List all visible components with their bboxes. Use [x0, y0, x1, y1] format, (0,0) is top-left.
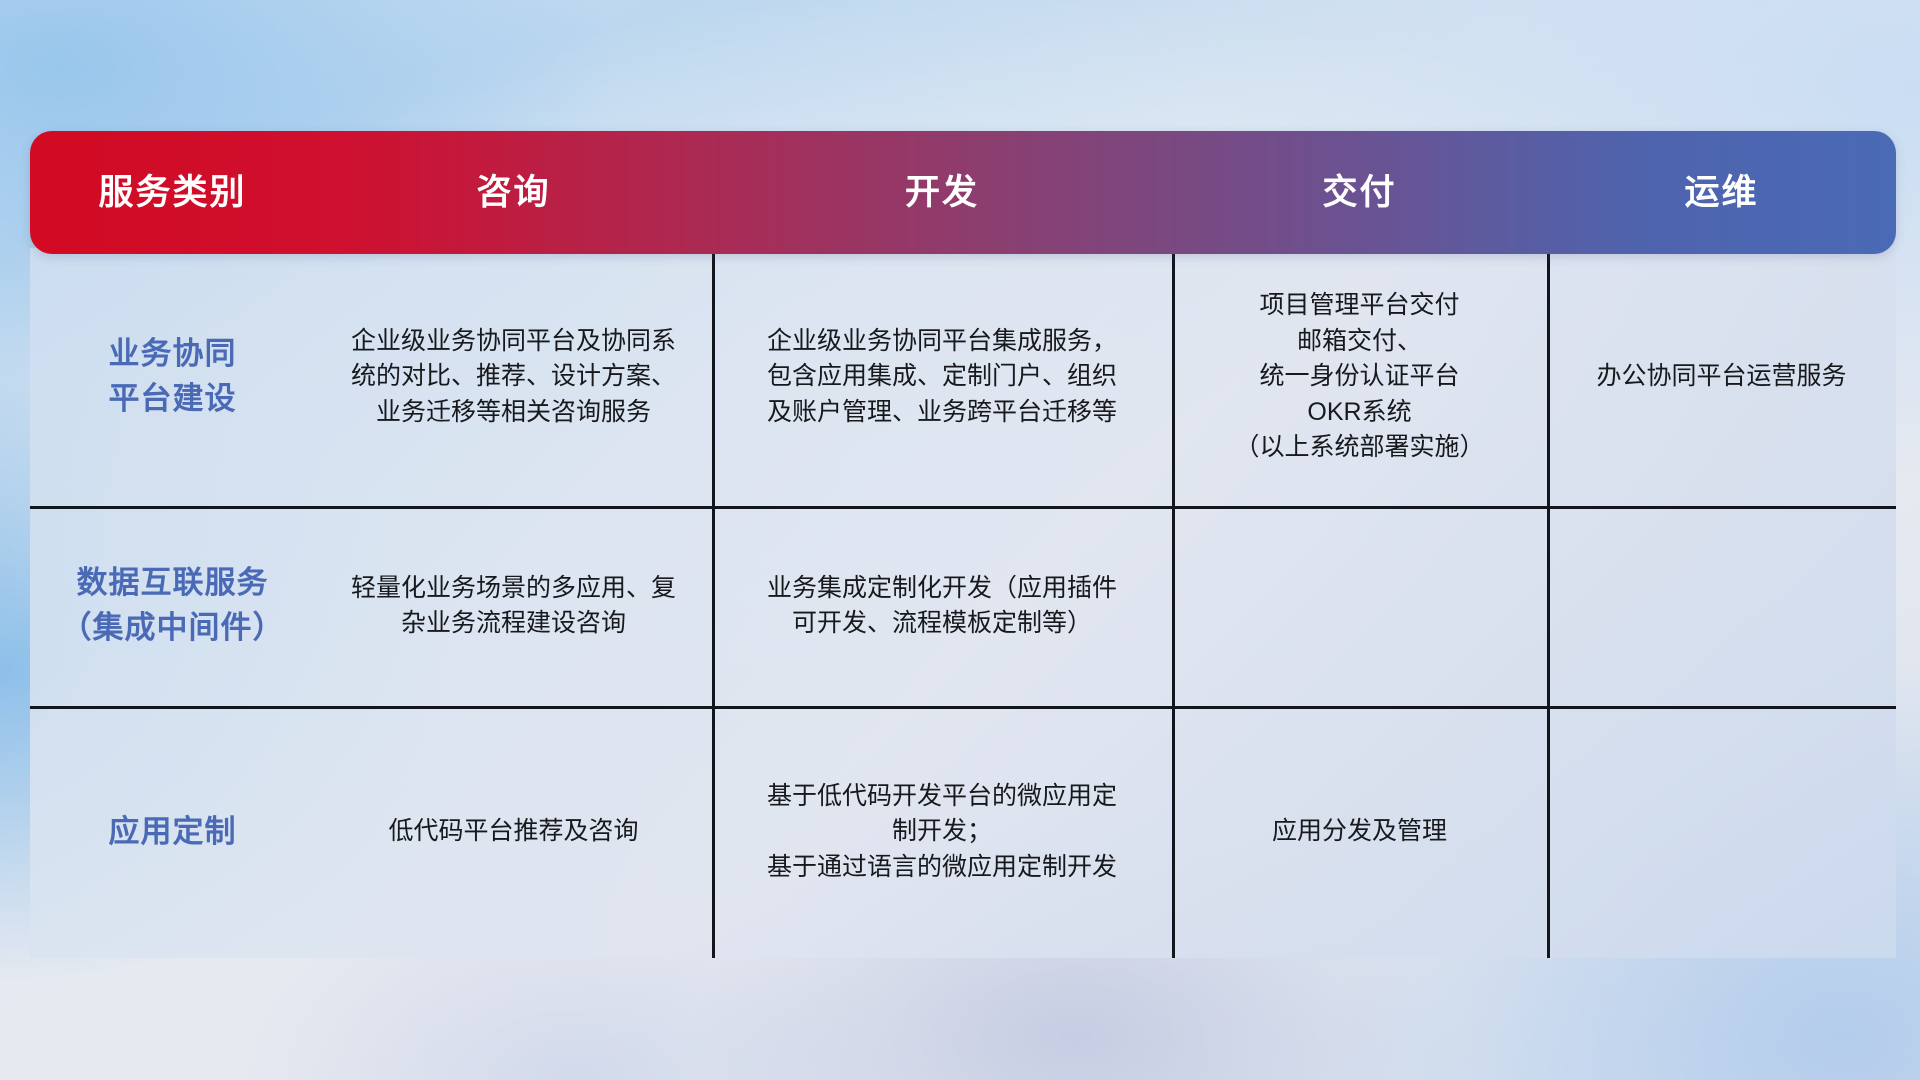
column-header-category: 服务类别 — [30, 172, 315, 214]
cell-operations: 办公协同平台运营服务 — [1547, 248, 1896, 506]
table-header-row: 服务类别 咨询 开发 交付 运维 — [30, 131, 1896, 254]
column-header-consulting: 咨询 — [315, 172, 712, 214]
column-header-operations: 运维 — [1547, 172, 1896, 214]
table-body: 业务协同 平台建设 企业级业务协同平台及协同系 统的对比、推荐、设计方案、 业务… — [30, 248, 1896, 958]
cell-operations — [1547, 706, 1896, 958]
column-header-delivery: 交付 — [1172, 172, 1547, 214]
cell-delivery: 应用分发及管理 — [1172, 706, 1547, 958]
cell-category: 业务协同 平台建设 — [30, 248, 315, 506]
cell-consulting: 低代码平台推荐及咨询 — [315, 706, 712, 958]
table-row: 业务协同 平台建设 企业级业务协同平台及协同系 统的对比、推荐、设计方案、 业务… — [30, 248, 1896, 506]
cell-consulting: 轻量化业务场景的多应用、复 杂业务流程建设咨询 — [315, 506, 712, 706]
cell-category: 数据互联服务 （集成中间件） — [30, 506, 315, 706]
service-category-table: 服务类别 咨询 开发 交付 运维 业务协同 平台建设 企业级业务协同平台及协同系… — [30, 131, 1896, 958]
column-header-development: 开发 — [712, 172, 1172, 214]
cell-category: 应用定制 — [30, 706, 315, 958]
table-row: 应用定制 低代码平台推荐及咨询 基于低代码开发平台的微应用定 制开发； 基于通过… — [30, 706, 1896, 958]
cell-development: 业务集成定制化开发（应用插件 可开发、流程模板定制等） — [712, 506, 1172, 706]
cell-development: 基于低代码开发平台的微应用定 制开发； 基于通过语言的微应用定制开发 — [712, 706, 1172, 958]
cell-operations — [1547, 506, 1896, 706]
table-row: 数据互联服务 （集成中间件） 轻量化业务场景的多应用、复 杂业务流程建设咨询 业… — [30, 506, 1896, 706]
cell-consulting: 企业级业务协同平台及协同系 统的对比、推荐、设计方案、 业务迁移等相关咨询服务 — [315, 248, 712, 506]
cell-development: 企业级业务协同平台集成服务， 包含应用集成、定制门户、组织 及账户管理、业务跨平… — [712, 248, 1172, 506]
cell-delivery: 项目管理平台交付 邮箱交付、 统一身份认证平台 OKR系统 （以上系统部署实施） — [1172, 248, 1547, 506]
cell-delivery — [1172, 506, 1547, 706]
